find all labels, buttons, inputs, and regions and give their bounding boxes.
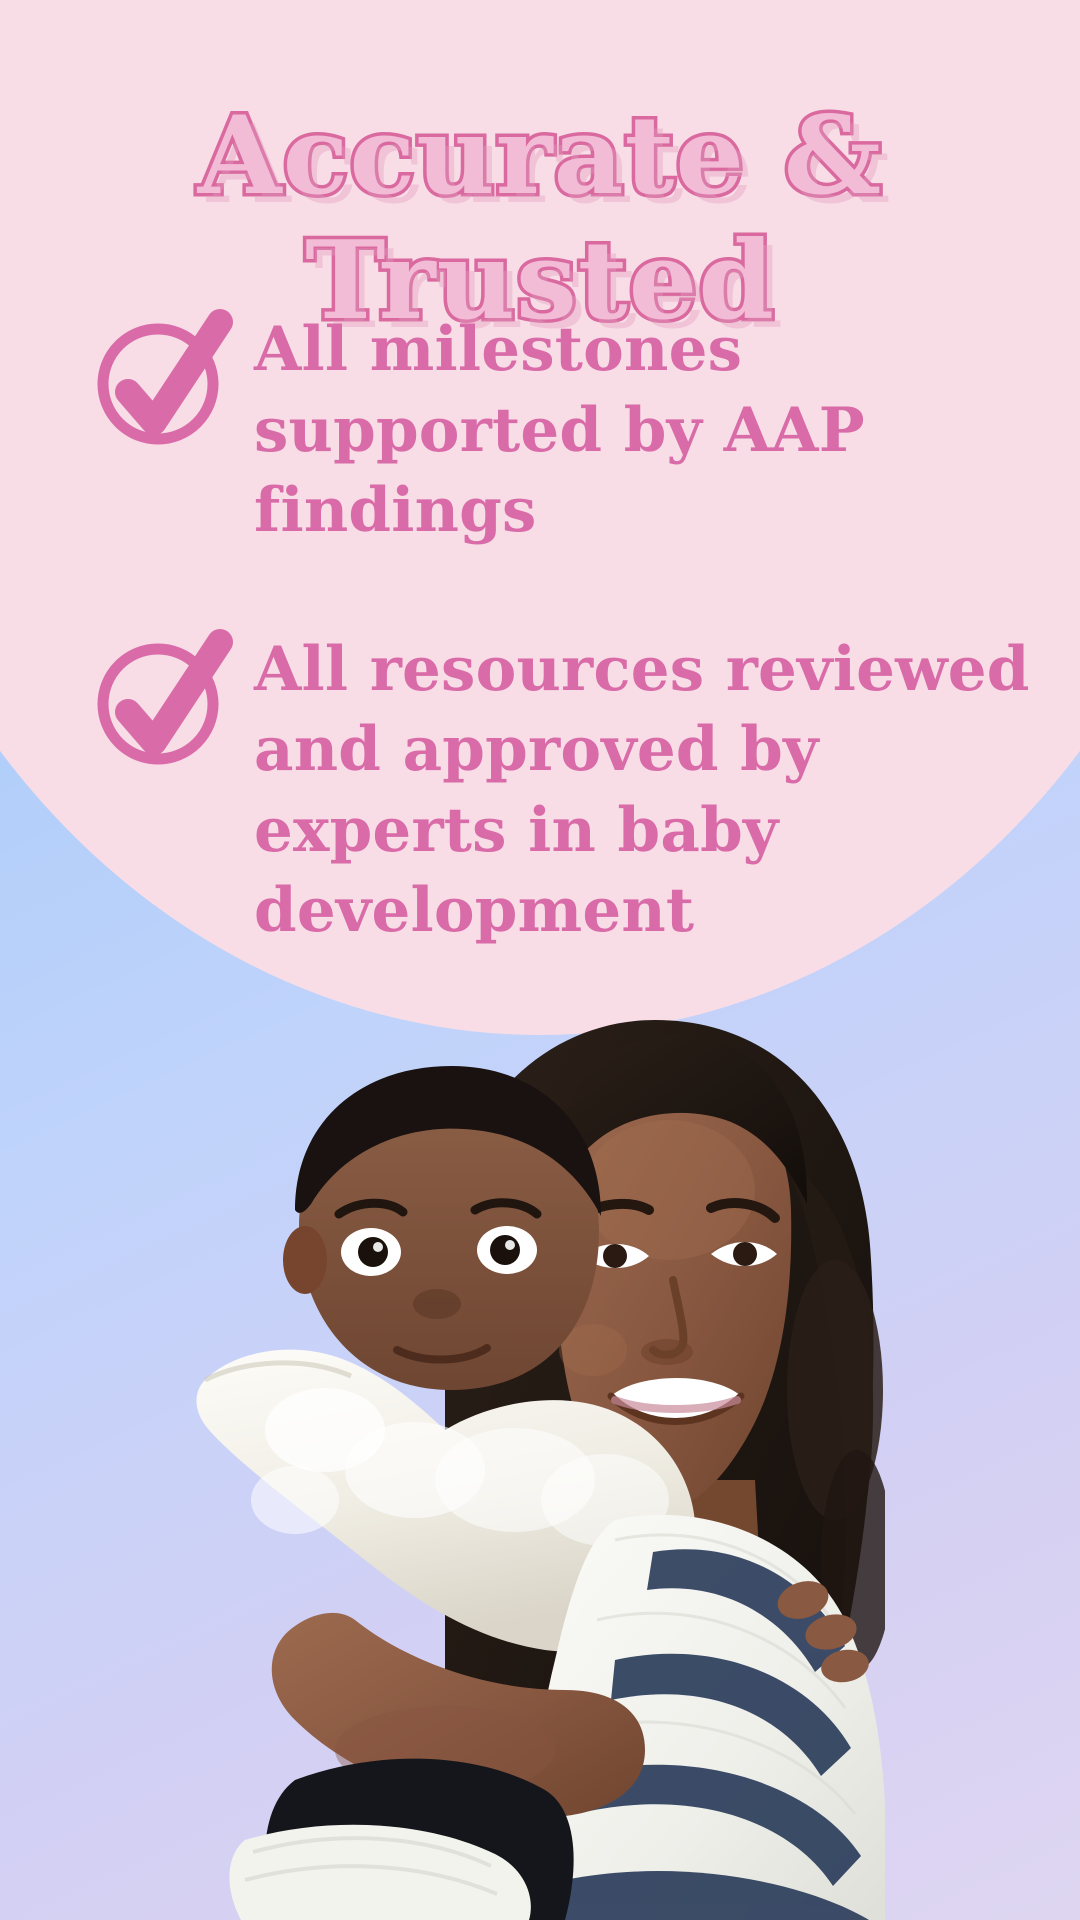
list-item-label: All resources reviewed and approved by e… [254, 620, 1040, 952]
mother-baby-photo [145, 960, 885, 1920]
circle-check-icon [92, 308, 232, 448]
list-item-label: All milestones supported by AAP findings [254, 300, 1040, 552]
circle-check-icon [92, 628, 232, 768]
list-item: All resources reviewed and approved by e… [0, 620, 1080, 952]
benefits-list: All milestones supported by AAP findings… [0, 300, 1080, 1020]
list-item: All milestones supported by AAP findings [0, 300, 1080, 552]
poster-canvas: Accurate & Trusted All milestones suppor… [0, 0, 1080, 1920]
